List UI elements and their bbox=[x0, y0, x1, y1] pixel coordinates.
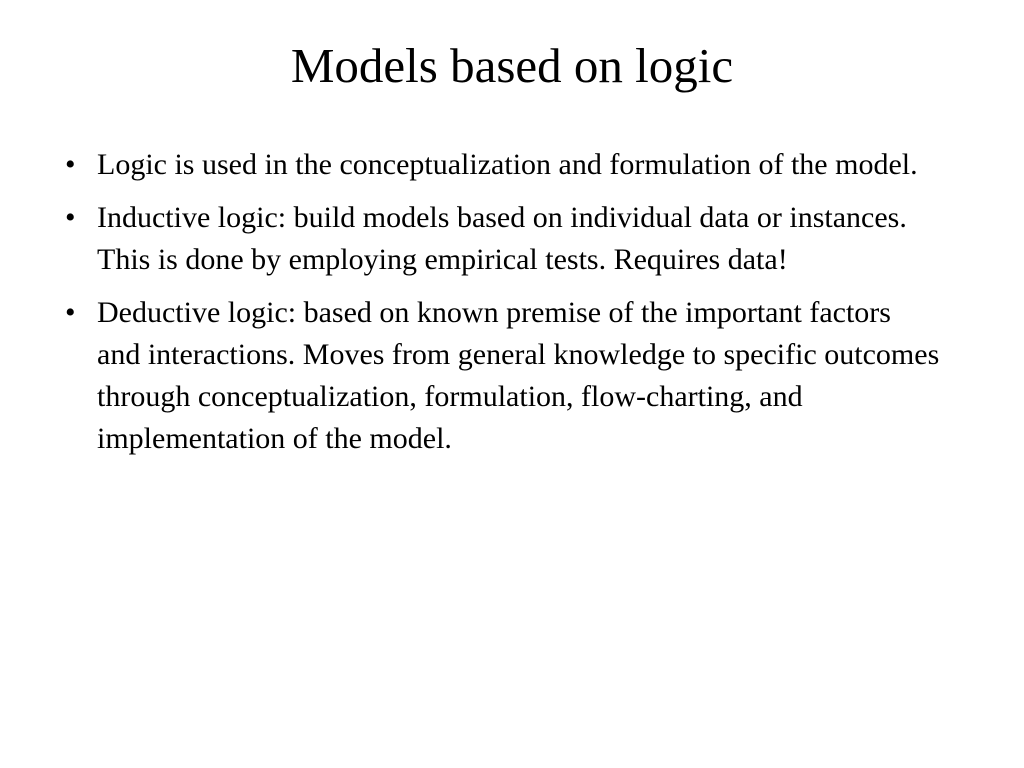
list-item-text: Inductive logic: build models based on i… bbox=[97, 197, 940, 281]
list-item: • Deductive logic: based on known premis… bbox=[60, 292, 940, 460]
presentation-slide: Models based on logic • Logic is used in… bbox=[0, 0, 1024, 768]
list-item-text: Deductive logic: based on known premise … bbox=[97, 292, 940, 460]
page-title: Models based on logic bbox=[0, 40, 1024, 93]
list-item-text: Logic is used in the conceptualization a… bbox=[97, 144, 940, 186]
list-item: • Logic is used in the conceptualization… bbox=[60, 144, 940, 186]
bullet-point-icon: • bbox=[65, 144, 85, 186]
list-item: • Inductive logic: build models based on… bbox=[60, 197, 940, 281]
bullet-point-icon: • bbox=[65, 292, 85, 334]
bullet-point-icon: • bbox=[65, 197, 85, 239]
bullet-list: • Logic is used in the conceptualization… bbox=[60, 144, 940, 460]
